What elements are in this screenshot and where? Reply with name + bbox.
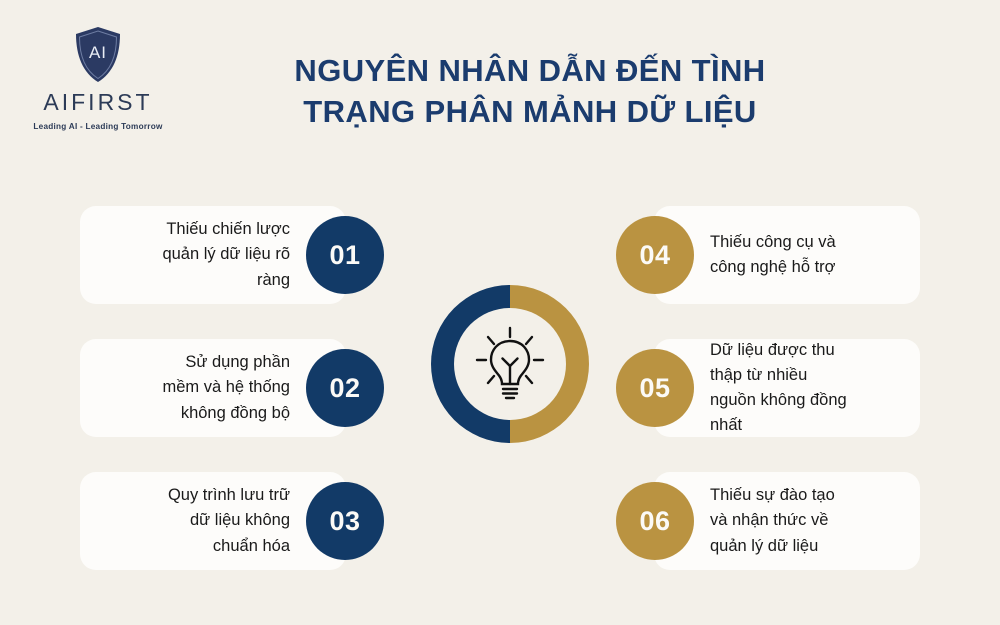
cause-card-02-number: 02	[306, 349, 384, 427]
cause-card-05-number: 05	[616, 349, 694, 427]
page-title-line-2: TRẠNG PHÂN MẢNH DỮ LIỆU	[210, 91, 850, 132]
cause-card-04-number: 04	[616, 216, 694, 294]
brand-wordmark: AIFIRST	[43, 89, 152, 116]
page-title: NGUYÊN NHÂN DẪN ĐẾN TÌNH TRẠNG PHÂN MẢNH…	[210, 50, 850, 132]
lightbulb-icon	[475, 326, 545, 402]
center-graphic	[425, 279, 595, 449]
page-title-line-1: NGUYÊN NHÂN DẪN ĐẾN TÌNH	[210, 50, 850, 91]
cause-card-06[interactable]: 06 Thiếu sự đào tạo và nhận thức về quản…	[654, 472, 920, 570]
brand-logo: AI AIFIRST Leading AI - Leading Tomorrow	[24, 26, 172, 131]
cause-card-06-number: 06	[616, 482, 694, 560]
header: AI AIFIRST Leading AI - Leading Tomorrow…	[0, 0, 1000, 160]
cause-card-04[interactable]: 04 Thiếu công cụ và công nghệ hỗ trợ	[654, 206, 920, 304]
brand-tagline: Leading AI - Leading Tomorrow	[33, 122, 162, 131]
cause-card-01-number: 01	[306, 216, 384, 294]
infographic-page: AI AIFIRST Leading AI - Leading Tomorrow…	[0, 0, 1000, 625]
cause-card-03-number: 03	[306, 482, 384, 560]
cause-card-01[interactable]: Thiếu chiến lược quản lý dữ liệu rõ ràng…	[80, 206, 346, 304]
shield-letters-text: AI	[89, 43, 107, 62]
shield-icon: AI	[73, 26, 123, 84]
cause-card-03[interactable]: Quy trình lưu trữ dữ liệu không chuẩn hó…	[80, 472, 346, 570]
cause-card-05[interactable]: 05 Dữ liệu được thu thập từ nhiều nguồn …	[654, 339, 920, 437]
cause-card-02[interactable]: Sử dụng phần mềm và hệ thống không đồng …	[80, 339, 346, 437]
